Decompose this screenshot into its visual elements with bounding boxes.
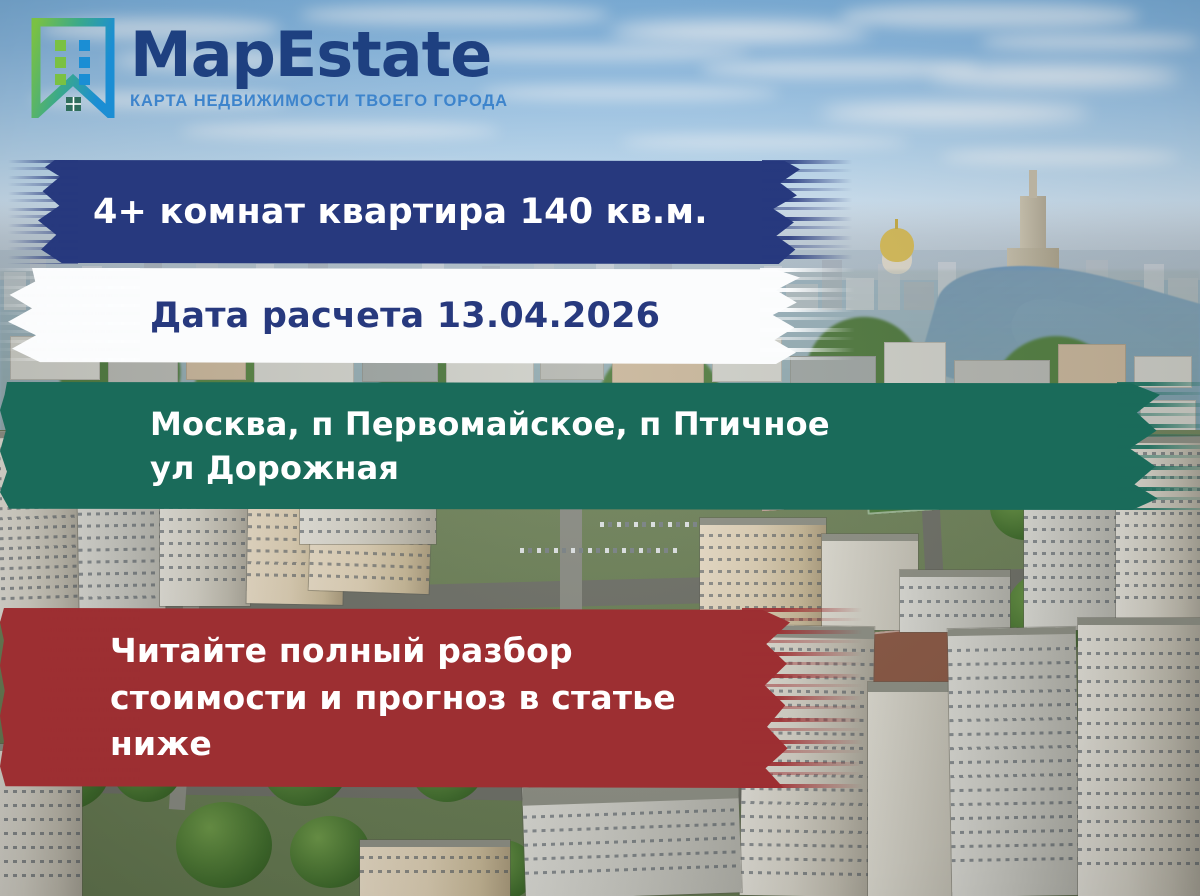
- cta-line-2: стоимости и прогноз в статье: [110, 675, 676, 722]
- address-line-2: ул Дорожная: [150, 446, 830, 490]
- address-band: Москва, п Первомайское, п Птичное ул Дор…: [0, 382, 1160, 510]
- address-line-1: Москва, п Первомайское, п Птичное: [150, 402, 830, 446]
- brand-text: MapEstate КАРТА НЕДВИЖИМОСТИ ТВОЕГО ГОРО…: [130, 25, 508, 111]
- brand-name: MapEstate: [130, 25, 508, 86]
- address-text: Москва, п Первомайское, п Птичное ул Дор…: [0, 402, 830, 490]
- calculation-date-band: Дата расчета 13.04.2026: [0, 268, 800, 364]
- brand-tagline: КАРТА НЕДВИЖИМОСТИ ТВОЕГО ГОРОДА: [130, 92, 508, 111]
- church-dome-icon: [880, 228, 914, 262]
- bookmark-building-icon: [30, 18, 116, 118]
- calculation-date-text: Дата расчета 13.04.2026: [0, 296, 660, 336]
- promo-banner: MapEstate КАРТА НЕДВИЖИМОСТИ ТВОЕГО ГОРО…: [0, 0, 1200, 896]
- cta-line-3: ниже: [110, 721, 676, 768]
- rooms-area-band: 4+ комнат квартира 140 кв.м.: [38, 160, 800, 264]
- cta-text: Читайте полный разбор стоимости и прогно…: [0, 628, 676, 769]
- cta-band[interactable]: Читайте полный разбор стоимости и прогно…: [0, 608, 790, 788]
- cta-line-1: Читайте полный разбор: [110, 628, 676, 675]
- brand-logo[interactable]: MapEstate КАРТА НЕДВИЖИМОСТИ ТВОЕГО ГОРО…: [30, 18, 508, 118]
- rooms-area-text: 4+ комнат квартира 140 кв.м.: [38, 192, 708, 232]
